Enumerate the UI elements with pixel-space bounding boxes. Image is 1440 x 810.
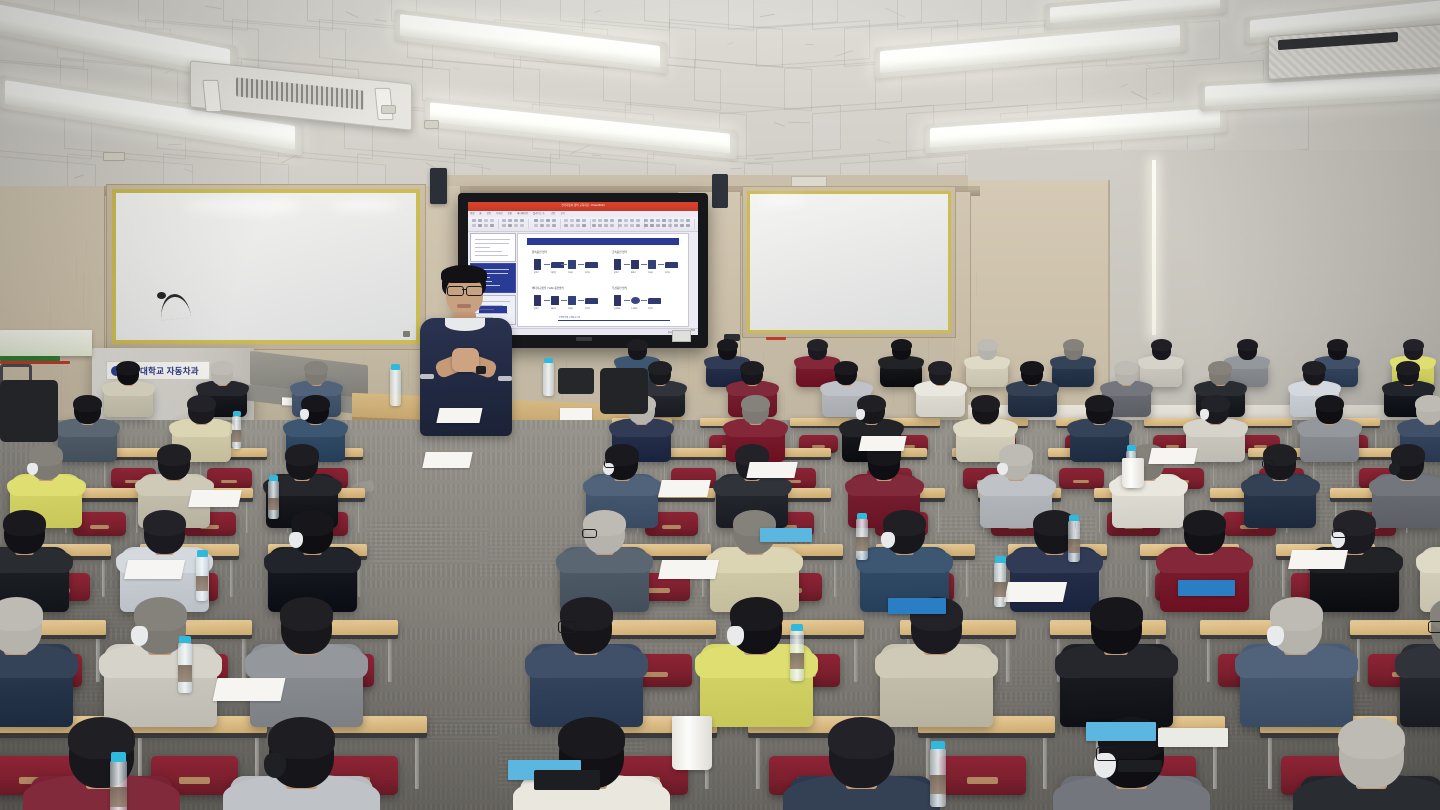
paper-cup[interactable] — [1122, 458, 1144, 488]
desk-leg — [104, 460, 106, 487]
attendee-hair — [1151, 339, 1172, 351]
desk-leg — [1146, 559, 1149, 597]
toolbar-icon[interactable] — [630, 224, 634, 227]
toolbar-icon[interactable] — [674, 224, 678, 227]
toolbar-icon[interactable] — [520, 219, 524, 222]
toolbar-icon[interactable] — [662, 219, 666, 222]
bottle-cap-icon — [111, 752, 126, 761]
toolbar-group-divider — [590, 219, 591, 229]
bottle-label — [268, 498, 279, 511]
toolbar-icon[interactable] — [662, 224, 666, 227]
chair-handle — [1073, 480, 1089, 483]
instructor-sleeve-trim-2 — [498, 376, 512, 381]
attendee-hair — [143, 510, 185, 536]
bottle-cap-icon — [233, 411, 242, 416]
desk-leg — [230, 559, 233, 597]
ac-vane-left-2 — [374, 88, 393, 120]
attendee-hair — [828, 717, 895, 759]
quadrant-title: 완속충전 방식 — [532, 250, 547, 254]
toolbar-icon[interactable] — [552, 219, 556, 222]
desk-leg — [102, 559, 105, 597]
paper-sheet[interactable] — [1288, 550, 1348, 569]
powerpoint-toolbar[interactable] — [468, 217, 698, 232]
attendee — [30, 720, 173, 810]
attendee — [1008, 362, 1057, 418]
smoke-detector-left — [381, 105, 396, 114]
slide-arrow — [624, 264, 630, 265]
slide-thumb-1[interactable] — [470, 233, 516, 262]
toolbar-icon[interactable] — [552, 224, 556, 227]
book[interactable] — [760, 528, 812, 542]
desk-leg — [756, 736, 760, 789]
toolbar-icon[interactable] — [472, 219, 476, 222]
paper-sheet[interactable] — [124, 560, 185, 579]
attendee-hair — [304, 361, 328, 375]
toolbar-icon[interactable] — [650, 224, 654, 227]
glasses-bridge — [462, 289, 466, 290]
water-bottle[interactable] — [178, 642, 192, 693]
paper-sheet[interactable] — [1148, 448, 1198, 464]
slide-icon-label: 변환기 — [631, 271, 636, 274]
attendee-hair — [3, 510, 45, 536]
attendee-hair — [627, 339, 648, 351]
bottle-label — [856, 537, 868, 551]
attendee — [1052, 340, 1094, 388]
toolbar-icon[interactable] — [484, 219, 488, 222]
attendee-hair — [741, 395, 770, 412]
attendee-hair — [1315, 395, 1344, 412]
toolbar-icon[interactable] — [520, 224, 524, 227]
whiteboard-left-glare — [182, 198, 302, 214]
attendee-hair — [1338, 717, 1405, 759]
bottle-label — [930, 775, 946, 794]
attendee — [0, 600, 73, 729]
toolbar-icon[interactable] — [570, 219, 574, 222]
desk-leg — [388, 638, 391, 683]
attendee-hair — [210, 361, 234, 375]
water-bottle[interactable] — [790, 630, 804, 681]
toolbar-icon[interactable] — [582, 219, 586, 222]
toolbar-icon[interactable] — [534, 219, 538, 222]
whiteboard-right-glare — [758, 197, 806, 206]
toolbar-icon[interactable] — [644, 219, 648, 222]
attendee — [1400, 600, 1440, 729]
toolbar-icon[interactable] — [656, 224, 660, 227]
attendee-hair — [740, 361, 764, 375]
toolbar-icon[interactable] — [668, 219, 672, 222]
face-mask-icon — [131, 626, 148, 646]
toolbar-group-divider — [498, 219, 499, 229]
toolbar-icon[interactable] — [508, 219, 512, 222]
attendee-hair — [1237, 339, 1258, 351]
toolbar-icon[interactable] — [576, 224, 580, 227]
attendee-hair — [187, 395, 216, 412]
attendee-hair — [928, 361, 952, 375]
quadrant-title: 급속충전 방식 — [612, 250, 627, 254]
microphone-icon — [157, 292, 166, 299]
attendee-hair — [1208, 361, 1232, 375]
paper-sheet[interactable] — [1004, 582, 1067, 602]
water-bottle[interactable] — [856, 518, 868, 560]
toolbar-icon[interactable] — [564, 224, 568, 227]
notebook-tablet[interactable] — [534, 770, 600, 790]
desk-leg — [357, 460, 359, 487]
attendee-hair — [1114, 361, 1138, 375]
water-bottle[interactable] — [196, 556, 208, 601]
slide-icon-converter — [631, 260, 639, 269]
lecture-chair[interactable] — [939, 756, 1026, 796]
wood-grain — [76, 257, 77, 288]
thumb-line — [475, 247, 490, 248]
attendee-hair — [1302, 361, 1326, 375]
attendee-hair — [1063, 339, 1084, 351]
glasses-icon-2 — [466, 286, 483, 296]
toolbar-icon[interactable] — [592, 219, 596, 222]
glasses-icon — [1096, 747, 1118, 761]
slide-icon-label: 커넥터 — [568, 271, 573, 274]
book[interactable] — [1158, 728, 1228, 747]
book[interactable] — [888, 598, 946, 614]
toolbar-icon[interactable] — [502, 219, 506, 222]
toolbar-icon[interactable] — [478, 219, 482, 222]
chair-handle — [221, 480, 237, 483]
wood-grain — [86, 237, 87, 261]
thumb-line — [475, 239, 510, 240]
toolbar-icon[interactable] — [650, 219, 654, 222]
attendee — [790, 720, 933, 810]
paper-sheet[interactable] — [436, 408, 482, 423]
glasses-icon — [604, 460, 616, 468]
toolbar-icon[interactable] — [546, 219, 550, 222]
toolbar-group-divider — [528, 219, 529, 229]
bottle-label — [790, 653, 804, 669]
instructor-hands — [452, 348, 479, 372]
bottle-label — [994, 582, 1006, 597]
face-mask-icon — [727, 626, 744, 646]
attendee-hair — [157, 444, 192, 465]
ppt-tab-1[interactable]: 홈 — [479, 211, 481, 215]
bottle-cap-icon — [197, 550, 208, 557]
paper-sheet[interactable] — [858, 436, 906, 451]
bottle-label — [1068, 539, 1080, 553]
toolbar-icon[interactable] — [668, 224, 672, 227]
slide-icon-label: 케이블 — [551, 271, 556, 274]
whiteboard-left-glare-2 — [330, 200, 400, 211]
slide-icon-label: 충전기 — [534, 271, 539, 274]
bottle-cap-icon — [995, 556, 1006, 563]
desk-leg — [825, 460, 827, 487]
bottle-label — [110, 787, 127, 807]
slide-icon-car — [551, 262, 564, 268]
paper-sheet[interactable] — [658, 480, 711, 497]
attendee-hair — [73, 395, 102, 412]
toolbar-icon[interactable] — [630, 219, 634, 222]
slide-icon-charger — [614, 259, 621, 270]
attendee-hair — [1090, 597, 1143, 630]
instructor-mouth — [457, 304, 471, 308]
wall-speaker-left — [430, 168, 447, 204]
toolbar-icon[interactable] — [540, 224, 544, 227]
desk-leg — [1213, 460, 1215, 487]
chair-handle — [90, 525, 109, 529]
bottle-label — [196, 576, 208, 591]
attendee — [880, 600, 993, 729]
water-bottle[interactable] — [930, 748, 946, 807]
toolbar-icon[interactable] — [592, 224, 596, 227]
desk-leg — [935, 429, 937, 452]
book[interactable] — [1178, 580, 1235, 596]
glasses-icon — [1332, 529, 1347, 538]
attendee-hair — [648, 361, 672, 375]
slide-icon-charger — [534, 259, 541, 270]
glasses-icon — [1428, 621, 1440, 632]
ppt-tab-2[interactable]: 삽입 — [487, 211, 491, 215]
toolbar-icon[interactable] — [624, 224, 628, 227]
water-bottle[interactable] — [110, 760, 127, 810]
desk-leg — [1207, 638, 1210, 683]
bottle-cap-icon — [179, 636, 192, 644]
desk-leg — [1352, 460, 1354, 487]
bottle-cap-icon — [931, 741, 946, 750]
smoke-detector-center — [424, 120, 439, 129]
classroom-photo: 전기자동차 정비 교육자료 - PowerPoint 파일홈삽입디자인전환애니메… — [0, 0, 1440, 810]
attendee — [1420, 512, 1440, 614]
thumb-line — [475, 255, 508, 256]
toolbar-icon[interactable] — [686, 224, 690, 227]
bottle-cap-icon — [857, 513, 868, 519]
slide-arrow — [658, 264, 664, 265]
desk-leg — [1268, 736, 1272, 789]
toolbar-icon[interactable] — [598, 224, 602, 227]
toolbar-icon[interactable] — [618, 219, 622, 222]
toolbar-icon[interactable] — [508, 224, 512, 227]
attendee — [104, 600, 217, 729]
toolbar-icon[interactable] — [680, 224, 684, 227]
glasses-icon — [582, 529, 597, 538]
wristwatch-icon — [476, 366, 486, 374]
attendee-hair — [0, 597, 43, 630]
toolbar-icon[interactable] — [564, 219, 568, 222]
water-bottle[interactable] — [1068, 520, 1080, 562]
water-bottle[interactable] — [232, 415, 241, 449]
slide-icon-vehicle — [585, 262, 598, 268]
instructor-collar — [445, 318, 485, 331]
smartphone[interactable] — [1118, 760, 1162, 772]
ppt-tab-0[interactable]: 파일 — [470, 211, 474, 215]
attendee-hair — [1396, 361, 1420, 375]
desk-leg — [1043, 736, 1047, 789]
ppt-tab-7[interactable]: 검토 — [551, 211, 555, 215]
attendee-hair — [558, 717, 625, 759]
glasses-icon — [447, 286, 464, 296]
attendee-hair — [1327, 339, 1348, 351]
attendee — [1160, 512, 1249, 614]
bottle-cap-icon — [1127, 445, 1136, 451]
attendee — [230, 720, 373, 810]
toolbar-icon[interactable] — [624, 219, 628, 222]
toolbar-group-divider — [694, 219, 695, 229]
instructor-sleeve-trim — [420, 374, 434, 379]
attendee-hair — [891, 339, 912, 351]
desk-edge — [918, 733, 1055, 738]
toolbar-icon[interactable] — [618, 224, 622, 227]
bottle-cap-icon — [1069, 515, 1080, 521]
paper-cup[interactable] — [672, 716, 712, 770]
slide-arrow — [561, 264, 567, 265]
toolbar-icon[interactable] — [644, 224, 648, 227]
slide-icon-label: 전기차 — [585, 271, 590, 274]
paper-sheet[interactable] — [422, 452, 472, 468]
desk-leg — [415, 736, 419, 789]
book[interactable] — [1086, 722, 1156, 741]
ppt-tab-6[interactable]: 슬라이드 쇼 — [533, 211, 545, 215]
attendee-hair — [1183, 510, 1225, 536]
backpack — [0, 380, 58, 442]
backpack-2 — [600, 368, 648, 414]
paper-sheet[interactable] — [213, 678, 286, 701]
attendee — [1240, 600, 1353, 729]
bottle-cap-icon — [791, 624, 804, 632]
toolbar-icon[interactable] — [502, 224, 506, 227]
ppt-tab-8[interactable]: 보기 — [561, 211, 565, 215]
desk-leg — [966, 559, 969, 597]
glasses-icon — [1262, 460, 1274, 468]
toolbar-icon[interactable] — [570, 224, 574, 227]
lecture-chair[interactable] — [1059, 468, 1104, 488]
attendee-shoulders — [1416, 546, 1440, 574]
face-mask-icon — [1200, 409, 1209, 420]
toolbar-icon[interactable] — [604, 219, 608, 222]
toolbar-icon[interactable] — [576, 219, 580, 222]
ppt-tab-5[interactable]: 애니메이션 — [517, 211, 528, 215]
slide-icon-label: 커넥터 — [648, 271, 653, 274]
toolbar-group-divider — [560, 219, 561, 229]
attendee-hair — [977, 339, 998, 351]
paper-sheet[interactable] — [658, 560, 719, 579]
wood-grain — [100, 276, 101, 294]
quadrant-title: 배터리교환식 / V2G 충전방식 — [532, 286, 564, 290]
slide-arrow — [641, 264, 647, 265]
thumb-line — [475, 251, 502, 252]
attendee — [1060, 600, 1173, 729]
chair-handle — [662, 525, 681, 529]
attendee-hair — [280, 597, 333, 630]
toolbar-icon[interactable] — [680, 219, 684, 222]
quadrant-title: 무선충전 방식 — [612, 286, 627, 290]
powerpoint-title: 전기자동차 정비 교육자료 - PowerPoint — [561, 203, 604, 207]
toolbar-icon[interactable] — [582, 224, 586, 227]
slide-icon-plug — [648, 260, 656, 269]
toolbar-icon[interactable] — [540, 219, 544, 222]
face-mask-icon — [856, 409, 865, 420]
attendee-hair — [834, 361, 858, 375]
paper-sheet[interactable] — [188, 490, 242, 507]
toolbar-icon[interactable] — [598, 219, 602, 222]
attendee-hair — [285, 444, 320, 465]
attendee — [966, 340, 1008, 388]
wood-grain — [52, 247, 53, 269]
water-bottle[interactable] — [268, 480, 279, 519]
face-mask-icon — [300, 409, 309, 420]
attendee — [250, 600, 363, 729]
slide-icon-plug — [568, 260, 576, 269]
slide-arrow — [578, 264, 584, 265]
bottle-label — [178, 665, 192, 682]
ppt-tab-4[interactable]: 전환 — [508, 211, 512, 215]
slide-quadrant-0: 완속충전 방식충전기케이블커넥터전기차 — [532, 250, 604, 284]
attendee — [1300, 720, 1440, 810]
toolbar-icon[interactable] — [490, 219, 494, 222]
toolbar-icon[interactable] — [534, 224, 538, 227]
chair-handle — [967, 777, 998, 783]
attendee-hair — [1085, 395, 1114, 412]
slide-icon-vehicle — [665, 262, 678, 268]
attendee-hair — [971, 395, 1000, 412]
toolbar-icon[interactable] — [514, 224, 518, 227]
paper-sheet[interactable] — [746, 462, 797, 478]
attendee-hair — [717, 339, 738, 351]
toolbar-icon[interactable] — [490, 224, 494, 227]
chair-handle — [179, 777, 210, 783]
toolbar-icon[interactable] — [636, 219, 640, 222]
wood-grain — [976, 273, 977, 296]
desk-leg — [1099, 501, 1101, 533]
ppt-tab-3[interactable]: 디자인 — [496, 211, 503, 215]
attendee-hair — [1020, 361, 1044, 375]
attendee-hair — [116, 361, 140, 375]
glasses-icon — [558, 621, 576, 632]
toolbar-icon[interactable] — [610, 219, 614, 222]
toolbar-icon[interactable] — [604, 224, 608, 227]
toolbar-icon[interactable] — [636, 224, 640, 227]
desk-leg — [956, 460, 958, 487]
desk-leg — [1282, 559, 1285, 597]
bottle-cap-icon — [269, 475, 279, 481]
toolbar-icon[interactable] — [656, 219, 660, 222]
ac-vane-left — [202, 80, 221, 112]
attendee-hair — [1415, 395, 1440, 412]
attendee — [530, 600, 643, 729]
slide-arrow — [544, 264, 550, 265]
toolbar-icon[interactable] — [610, 224, 614, 227]
wall-speaker-right — [712, 174, 728, 208]
slide-icon-label: 전기차 — [665, 271, 670, 274]
instructor-hair-top — [441, 265, 487, 283]
toolbar-icon[interactable] — [514, 219, 518, 222]
attendee-hair — [1403, 339, 1424, 351]
ceiling-light — [880, 25, 1180, 73]
slide-icon-label: 충전기 — [614, 271, 619, 274]
toolbar-icon[interactable] — [686, 219, 690, 222]
toolbar-icon[interactable] — [484, 224, 488, 227]
attendee-shoulders — [1395, 643, 1440, 678]
slide-quadrant-1: 급속충전 방식충전기변환기커넥터전기차 — [612, 250, 684, 284]
thumb-line — [475, 243, 509, 244]
desk-leg — [854, 638, 857, 683]
attendee — [1244, 446, 1316, 529]
face-mask-icon — [1267, 626, 1284, 646]
chair-handle — [647, 588, 670, 593]
toolbar-icon[interactable] — [546, 224, 550, 227]
toolbar-icon[interactable] — [472, 224, 476, 227]
powerpoint-ribbon: 전기자동차 정비 교육자료 - PowerPoint — [468, 202, 698, 211]
water-bottle[interactable] — [994, 562, 1006, 607]
desk-leg — [834, 559, 837, 597]
slide-title-bar — [527, 238, 679, 245]
toolbar-icon[interactable] — [478, 224, 482, 227]
toolbar-icon[interactable] — [674, 219, 678, 222]
ceiling-vent-plate — [103, 152, 125, 161]
